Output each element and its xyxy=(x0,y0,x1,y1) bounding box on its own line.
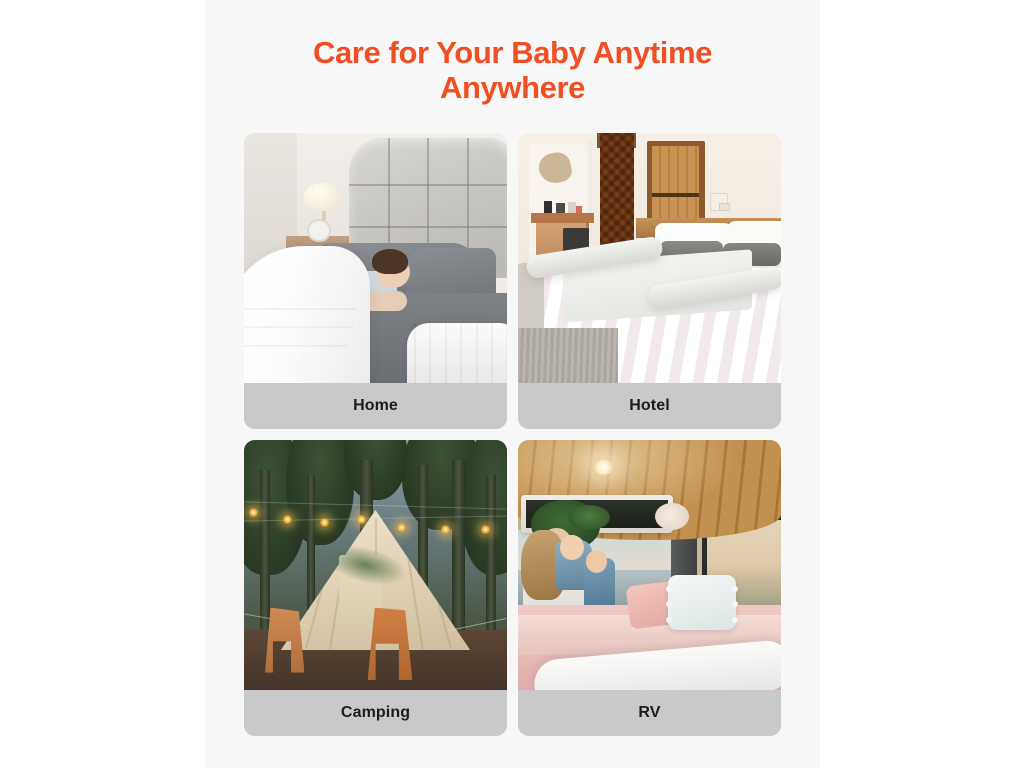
card-label-home: Home xyxy=(353,397,398,415)
home-caption: Home xyxy=(244,383,507,429)
hotel-room-illustration xyxy=(518,133,781,383)
camping-illustration xyxy=(244,440,507,690)
white-pom-pillow xyxy=(668,575,736,630)
sleeping-child-hair xyxy=(372,249,409,274)
lamp-icon xyxy=(304,183,341,211)
tree-trunk xyxy=(260,470,271,640)
string-light-bulb xyxy=(481,525,490,534)
door-cross-bar xyxy=(652,193,699,197)
card-label-hotel: Hotel xyxy=(629,397,670,415)
scenario-card-hotel[interactable]: Hotel xyxy=(518,133,781,429)
hotel-caption: Hotel xyxy=(518,383,781,429)
dried-flowers xyxy=(655,503,689,531)
grey-pillow-second xyxy=(407,248,496,298)
baby-head xyxy=(560,535,584,560)
page-title: Care for Your Baby Anytime Anywhere xyxy=(205,36,820,105)
string-light-bulb xyxy=(397,523,406,532)
string-light-bulb xyxy=(320,518,329,527)
card-label-camping: Camping xyxy=(341,704,410,722)
camping-caption: Camping xyxy=(244,690,507,736)
ceiling-lamp-icon xyxy=(594,460,612,475)
scenario-card-camping[interactable]: Camping xyxy=(244,440,507,736)
bedroom-illustration xyxy=(244,133,507,383)
card-label-rv: RV xyxy=(638,704,660,722)
string-light-bulb xyxy=(357,515,366,524)
scenario-card-home[interactable]: Home xyxy=(244,133,507,429)
tree-trunk xyxy=(486,475,497,640)
hanging-plant-leaves xyxy=(568,505,610,530)
rv-caption: RV xyxy=(518,690,781,736)
camper-van-illustration xyxy=(518,440,781,690)
string-light-bulb xyxy=(249,508,258,517)
alarm-clock-icon xyxy=(307,219,331,242)
tree-trunk xyxy=(452,460,465,640)
floor-rug xyxy=(518,328,618,383)
light-switch-small xyxy=(719,203,730,211)
page-root: Care for Your Baby Anytime Anywhere xyxy=(0,0,1024,768)
bed-rail-bumper-right xyxy=(407,323,507,383)
home-photo xyxy=(244,133,507,383)
second-child-head xyxy=(586,550,607,573)
bed-rail-bumper-left xyxy=(244,246,370,384)
scenario-card-grid: Home xyxy=(244,133,781,736)
minibar-counter xyxy=(531,213,594,223)
camping-photo xyxy=(244,440,507,690)
hotel-photo xyxy=(518,133,781,383)
scenario-card-rv[interactable]: RV xyxy=(518,440,781,736)
rv-photo xyxy=(518,440,781,690)
